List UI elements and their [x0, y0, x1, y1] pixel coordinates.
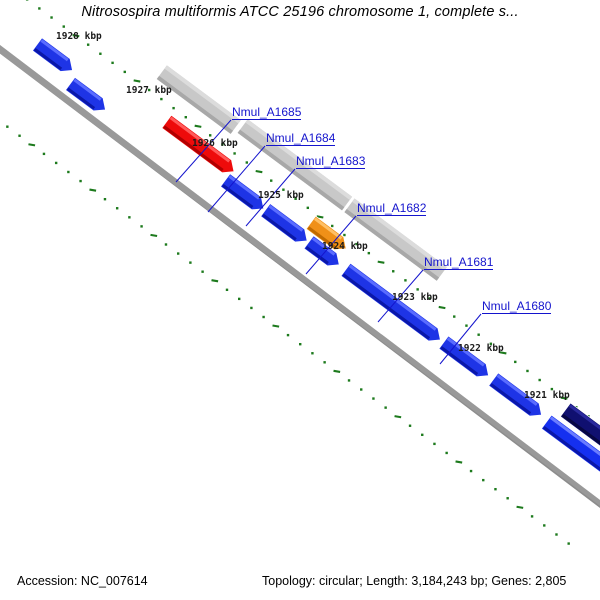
scale-tick-dot: [470, 470, 472, 472]
scale-tick-dot: [494, 488, 496, 490]
backbone-track: [157, 65, 447, 280]
scale-tick-dash: [500, 352, 507, 353]
scale-tick-dot: [50, 16, 52, 18]
scale-tick-dash: [28, 144, 35, 145]
gene-arrow-body[interactable]: [489, 373, 547, 422]
scale-tick-dot: [128, 216, 130, 218]
scale-tick-dot: [140, 225, 142, 227]
scale-tick-dot: [409, 425, 411, 427]
scale-tick-dot: [262, 316, 264, 318]
scale-tick-dot: [18, 135, 20, 137]
scale-tick-dot: [287, 334, 289, 336]
scale-tick-dot: [246, 161, 248, 163]
scale-tick-dot: [421, 434, 423, 436]
scale-tick-dot: [372, 397, 374, 399]
scale-tick-dot: [55, 162, 57, 164]
gene-arrow-body[interactable]: [32, 38, 77, 77]
scale-tick-dash: [256, 171, 263, 172]
scale-tick-dash: [517, 507, 524, 508]
scale-tick-dot: [531, 515, 533, 517]
gene-arrow[interactable]: [261, 204, 312, 248]
scale-tick-dash: [334, 371, 341, 372]
scale-tick-dash: [378, 262, 385, 263]
scale-tick-dash: [273, 325, 280, 326]
scale-tick-dot: [282, 189, 284, 191]
scale-tick-dash: [73, 35, 80, 36]
gene-label-nmul_a1681[interactable]: Nmul_A1681: [424, 256, 493, 270]
gene-arrow[interactable]: [220, 174, 268, 215]
scale-tick-dot: [416, 288, 418, 290]
scale-tick-dot: [185, 116, 187, 118]
gene-arrow-body[interactable]: [261, 204, 312, 248]
gene-label-nmul_a1685[interactable]: Nmul_A1685: [232, 106, 301, 120]
scale-tick-dash: [211, 280, 218, 281]
scale-tick-dash: [134, 80, 141, 81]
gene-arrow[interactable]: [489, 373, 547, 422]
gene-arrow-body[interactable]: [220, 174, 268, 215]
scale-tick-dot: [165, 243, 167, 245]
scale-tick-dot: [172, 107, 174, 109]
scale-tick-dot: [514, 361, 516, 363]
scale-tick-dot: [233, 152, 235, 154]
scale-tick-dot: [189, 261, 191, 263]
gene-label-nmul_a1683[interactable]: Nmul_A1683: [296, 155, 365, 169]
scale-tick-dot: [250, 307, 252, 309]
scale-tick-dot: [294, 198, 296, 200]
status-bar: Accession: NC_007614 Topology: circular;…: [0, 566, 600, 600]
scale-tick-dot: [63, 25, 65, 27]
scale-tick-dot: [543, 524, 545, 526]
scale-tick-dot: [221, 143, 223, 145]
gene-arrow[interactable]: [65, 77, 110, 116]
scale-tick-dot: [124, 71, 126, 73]
scale-tick-dot: [433, 443, 435, 445]
scale-tick-dot: [348, 379, 350, 381]
gene-arrow[interactable]: [32, 38, 77, 77]
gene-label-nmul_a1684[interactable]: Nmul_A1684: [266, 132, 335, 146]
scale-tick-dot: [331, 225, 333, 227]
scale-tick-dot: [270, 179, 272, 181]
scale-tick-dot: [355, 243, 357, 245]
scale-tick-dot: [307, 207, 309, 209]
scale-tick-dot: [99, 53, 101, 55]
scale-tick-dot: [111, 62, 113, 64]
scale-tick-dot: [67, 171, 69, 173]
map-layers: [0, 0, 600, 545]
scale-tick-dot: [323, 361, 325, 363]
scale-tick-dash: [395, 416, 402, 417]
scale-tick-dot: [79, 180, 81, 182]
scale-tick-marks: [0, 0, 600, 545]
scale-tick-dot: [567, 542, 569, 544]
scale-tick-dot: [177, 252, 179, 254]
gene-label-nmul_a1680[interactable]: Nmul_A1680: [482, 300, 551, 314]
scale-tick-dot: [384, 406, 386, 408]
scale-tick-dot: [445, 452, 447, 454]
scale-tick-dot: [26, 0, 28, 1]
scale-tick-dot: [299, 343, 301, 345]
scale-tick-dot: [226, 289, 228, 291]
scale-tick-dot: [43, 153, 45, 155]
gene-arrow[interactable]: [439, 336, 493, 382]
scale-tick-dot: [404, 279, 406, 281]
scale-tick-dash: [561, 398, 568, 399]
scale-tick-dot: [160, 98, 162, 100]
scale-tick-dot: [490, 343, 492, 345]
scale-tick-dot: [116, 207, 118, 209]
scale-tick-dot: [477, 334, 479, 336]
scale-tick-dot: [453, 315, 455, 317]
accession-text: Accession: NC_007614: [17, 574, 148, 588]
scale-tick-dash: [439, 307, 446, 308]
scale-tick-dash: [195, 126, 202, 127]
scale-tick-dot: [526, 370, 528, 372]
scale-tick-dot: [311, 352, 313, 354]
scale-tick-dot: [555, 533, 557, 535]
scale-tick-dash: [456, 461, 463, 462]
gene-label-nmul_a1682[interactable]: Nmul_A1682: [357, 202, 426, 216]
scale-tick-dash: [150, 235, 157, 236]
scale-tick-dot: [506, 497, 508, 499]
scale-tick-dot: [343, 234, 345, 236]
scale-tick-dot: [429, 297, 431, 299]
scale-tick-dot: [104, 198, 106, 200]
gene-arrow-body[interactable]: [65, 77, 110, 116]
topology-summary-text: Topology: circular; Length: 3,184,243 bp…: [262, 574, 566, 588]
scale-tick-dot: [538, 379, 540, 381]
scale-tick-dash: [89, 190, 96, 191]
scale-tick-dot: [209, 134, 211, 136]
scale-tick-dot: [551, 388, 553, 390]
gene-arrow-shade: [342, 273, 430, 339]
scale-tick-dot: [87, 44, 89, 46]
scale-tick-dot: [482, 479, 484, 481]
scale-tick-dot: [38, 7, 40, 9]
scale-tick-dot: [201, 270, 203, 272]
scale-tick-dot: [148, 89, 150, 91]
scale-tick-dot: [238, 298, 240, 300]
gene-arrow-body[interactable]: [439, 336, 493, 382]
scale-tick-dot: [360, 388, 362, 390]
scale-tick-dot: [368, 252, 370, 254]
scale-tick-dot: [392, 270, 394, 272]
scale-tick-dot: [465, 324, 467, 326]
scale-tick-dot: [6, 125, 8, 127]
